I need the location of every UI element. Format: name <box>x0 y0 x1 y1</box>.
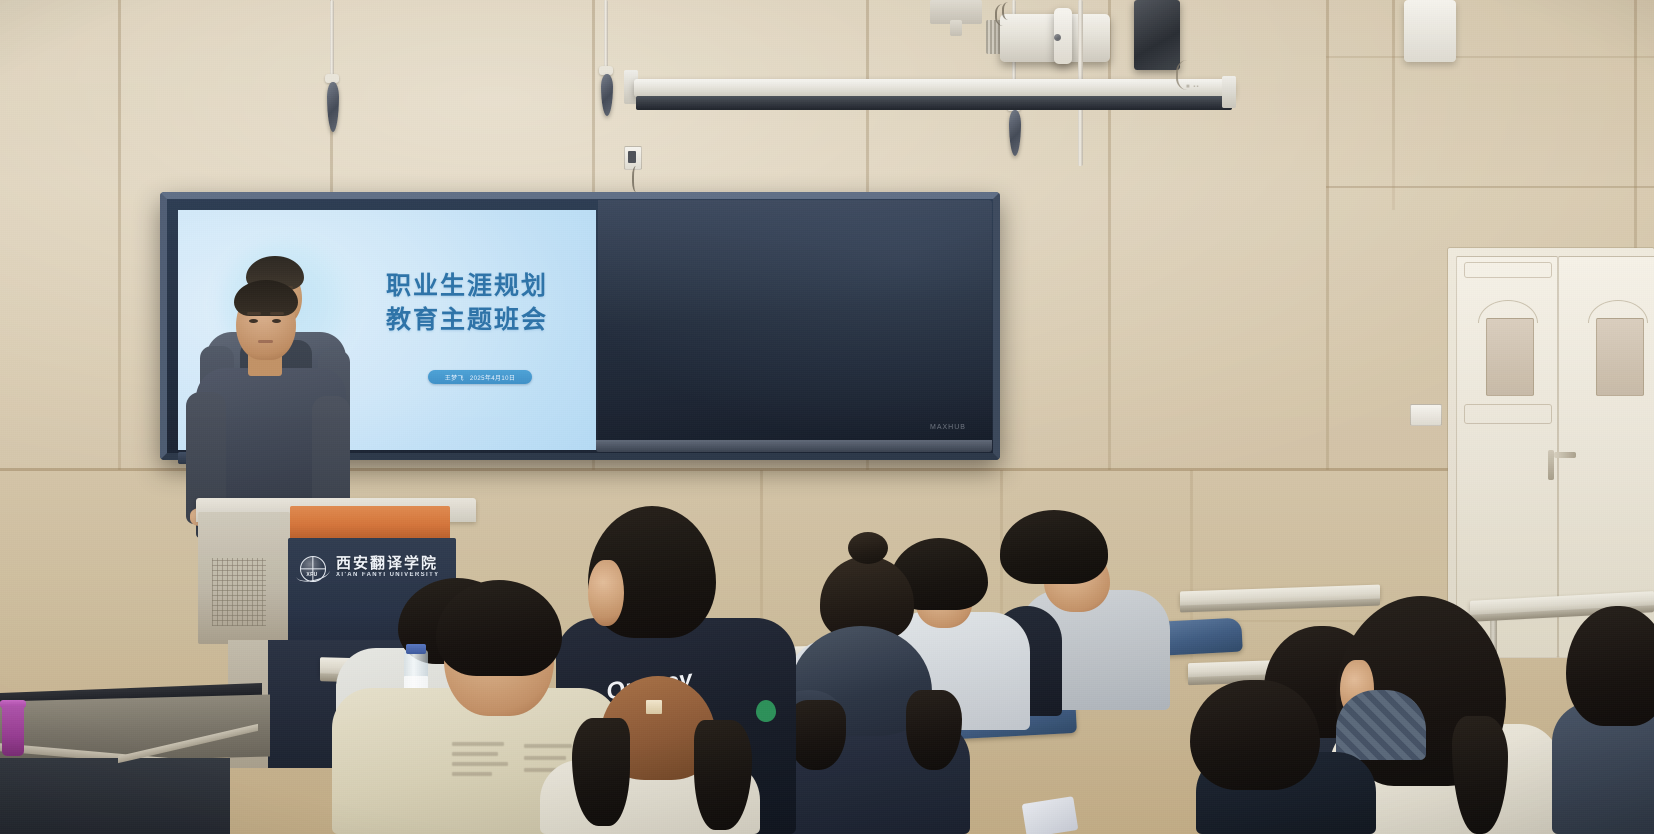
student-brown-cap-hair-left <box>572 718 630 826</box>
presenter-brow <box>270 312 284 315</box>
presenter-hair <box>234 280 298 316</box>
wall-seam <box>1392 0 1395 210</box>
microphone-cable <box>604 0 608 70</box>
display-bottom-rail <box>596 440 992 452</box>
door-window-left <box>1486 318 1534 396</box>
print-line <box>524 744 572 748</box>
water-bottle-cap <box>406 644 426 654</box>
wall-trim-line <box>1326 56 1654 58</box>
light-switch-plate[interactable] <box>1410 404 1442 426</box>
trash-bin <box>2 706 24 756</box>
display-brand-label: MAXHUB <box>930 424 966 431</box>
presenter-brow <box>247 312 261 315</box>
slide-presenter-badge: 王梦飞 2025年4月10日 <box>428 370 532 384</box>
slide-title-line2: 教育主题班会 <box>386 306 548 335</box>
wall-trim-line <box>1326 186 1654 188</box>
blackboard-surface <box>598 200 992 452</box>
university-logo-abbr: XFU <box>300 572 324 578</box>
slide-date: 2025年4月10日 <box>470 373 515 382</box>
smartphone[interactable] <box>1022 796 1079 834</box>
presenter-eye <box>249 319 258 323</box>
projector-cable <box>1002 2 1018 20</box>
projection-screen-roll <box>636 96 1232 110</box>
print-line <box>524 756 566 760</box>
university-name-cn: 西安翻译学院 <box>336 552 438 573</box>
presenter-mouth <box>258 340 273 343</box>
wall-mounted-unit <box>1404 0 1456 62</box>
print-line <box>452 772 492 776</box>
light-switch[interactable] <box>628 151 636 163</box>
switch-cable <box>632 166 642 192</box>
student-black-hoodie-face <box>588 560 624 626</box>
door-top-panel <box>1464 262 1552 278</box>
hoodie-green-logo <box>756 700 776 722</box>
ceiling-drop-rod <box>1078 108 1083 166</box>
stage-front-face <box>0 758 230 834</box>
print-line <box>452 762 508 766</box>
student-bottom-left-hair <box>1190 680 1320 790</box>
door-mid-panel <box>1464 404 1552 424</box>
projector-mount-arm <box>950 20 962 36</box>
student-plaid-shirt <box>1336 690 1426 760</box>
print-line <box>452 752 498 756</box>
slide-presenter-name: 王梦飞 <box>445 373 464 382</box>
podium-accent-band <box>290 506 450 540</box>
cap-logo-patch <box>646 700 662 714</box>
classroom-scene: ■ ▪▪ MAXHUB 职业生涯规划 教育主题班会 王梦飞 <box>0 0 1654 834</box>
slide-title-line1: 职业生涯规划 <box>386 272 548 301</box>
door-window-right <box>1596 318 1644 396</box>
projection-screen-case <box>634 79 1234 97</box>
podium-speaker-grill <box>212 558 266 626</box>
microphone-cable <box>330 0 334 78</box>
presenter-eye <box>272 319 281 323</box>
university-name-en: XI'AN FANYI UNIVERSITY <box>336 572 440 578</box>
student-bun-knot <box>848 532 888 564</box>
print-line <box>452 742 504 746</box>
screen-case-end <box>1222 76 1236 108</box>
speaker-cable <box>1176 60 1204 90</box>
projector-lens <box>1054 34 1061 41</box>
door-handle[interactable] <box>1554 452 1576 458</box>
wall-speaker <box>1134 0 1180 70</box>
